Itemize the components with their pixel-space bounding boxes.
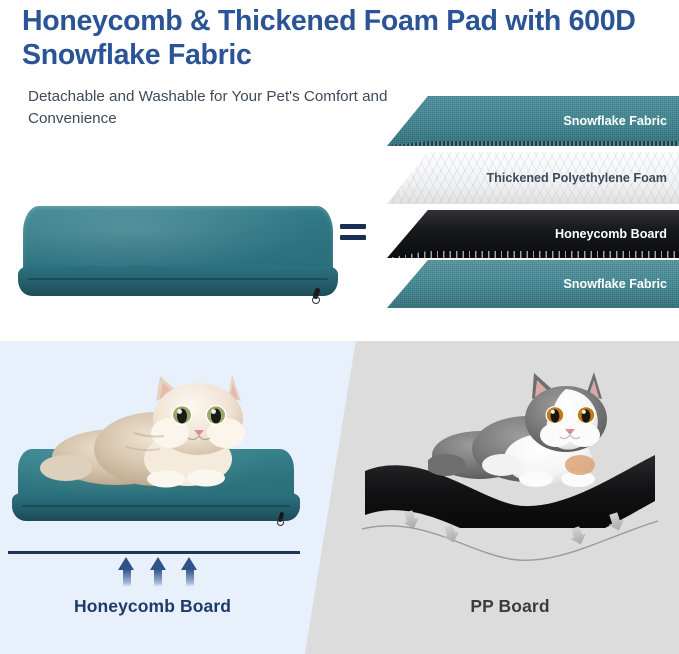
page-subtitle: Detachable and Washable for Your Pet's C…: [28, 86, 388, 130]
up-arrow-icon: [150, 557, 167, 587]
mat-seam-line: [22, 505, 290, 507]
layer-label: Honeycomb Board: [555, 227, 679, 241]
layer-snowflake-fabric-top: Snowflake Fabric: [387, 96, 679, 146]
fabric-edge-texture: [387, 141, 679, 146]
honeycomb-comparison-scene: Honeycomb Board: [0, 341, 380, 654]
support-reference-line: [8, 551, 300, 554]
product-mat-illustration: [18, 206, 338, 306]
layer-snowflake-fabric-bottom: Snowflake Fabric: [387, 260, 679, 308]
infographic-page: Honeycomb & Thickened Foam Pad with 600D…: [0, 0, 679, 654]
up-arrow-icon: [118, 557, 135, 587]
up-arrow-icon: [181, 557, 198, 587]
honeycomb-cell-edge: [387, 251, 679, 258]
pp-board-comparison-scene: PP Board: [340, 341, 679, 654]
down-arrow-icon: [570, 527, 586, 545]
comparison-panel: Honeycomb Board: [0, 341, 679, 654]
downward-sag-arrows: [365, 509, 660, 549]
mat-side-edge: [18, 266, 338, 296]
layer-label: Thickened Polyethylene Foam: [486, 171, 679, 185]
layer-label: Snowflake Fabric: [563, 114, 679, 128]
down-arrow-icon: [608, 513, 624, 531]
upward-support-arrows: [118, 557, 198, 589]
layer-label: Snowflake Fabric: [563, 277, 679, 291]
grey-white-cat-illustration: [428, 369, 628, 499]
pp-board-label: PP Board: [370, 596, 650, 617]
equals-sign-icon: [340, 222, 366, 242]
honeycomb-board-label: Honeycomb Board: [0, 596, 305, 617]
mat-seam-line: [28, 278, 328, 280]
zipper-pull-icon: [310, 286, 326, 302]
down-arrow-icon: [443, 525, 459, 543]
cream-cat-illustration: [38, 371, 268, 491]
zipper-pull-icon: [276, 511, 290, 526]
product-construction-panel: Honeycomb & Thickened Foam Pad with 600D…: [0, 0, 679, 341]
layer-stack-diagram: Snowflake Fabric Thickened Polyethylene …: [387, 96, 679, 308]
down-arrow-icon: [403, 511, 419, 529]
page-title: Honeycomb & Thickened Foam Pad with 600D…: [22, 4, 662, 72]
mat-side-edge: [12, 493, 300, 521]
layer-polyethylene-foam: Thickened Polyethylene Foam: [387, 152, 679, 204]
layer-honeycomb-board: Honeycomb Board: [387, 210, 679, 258]
